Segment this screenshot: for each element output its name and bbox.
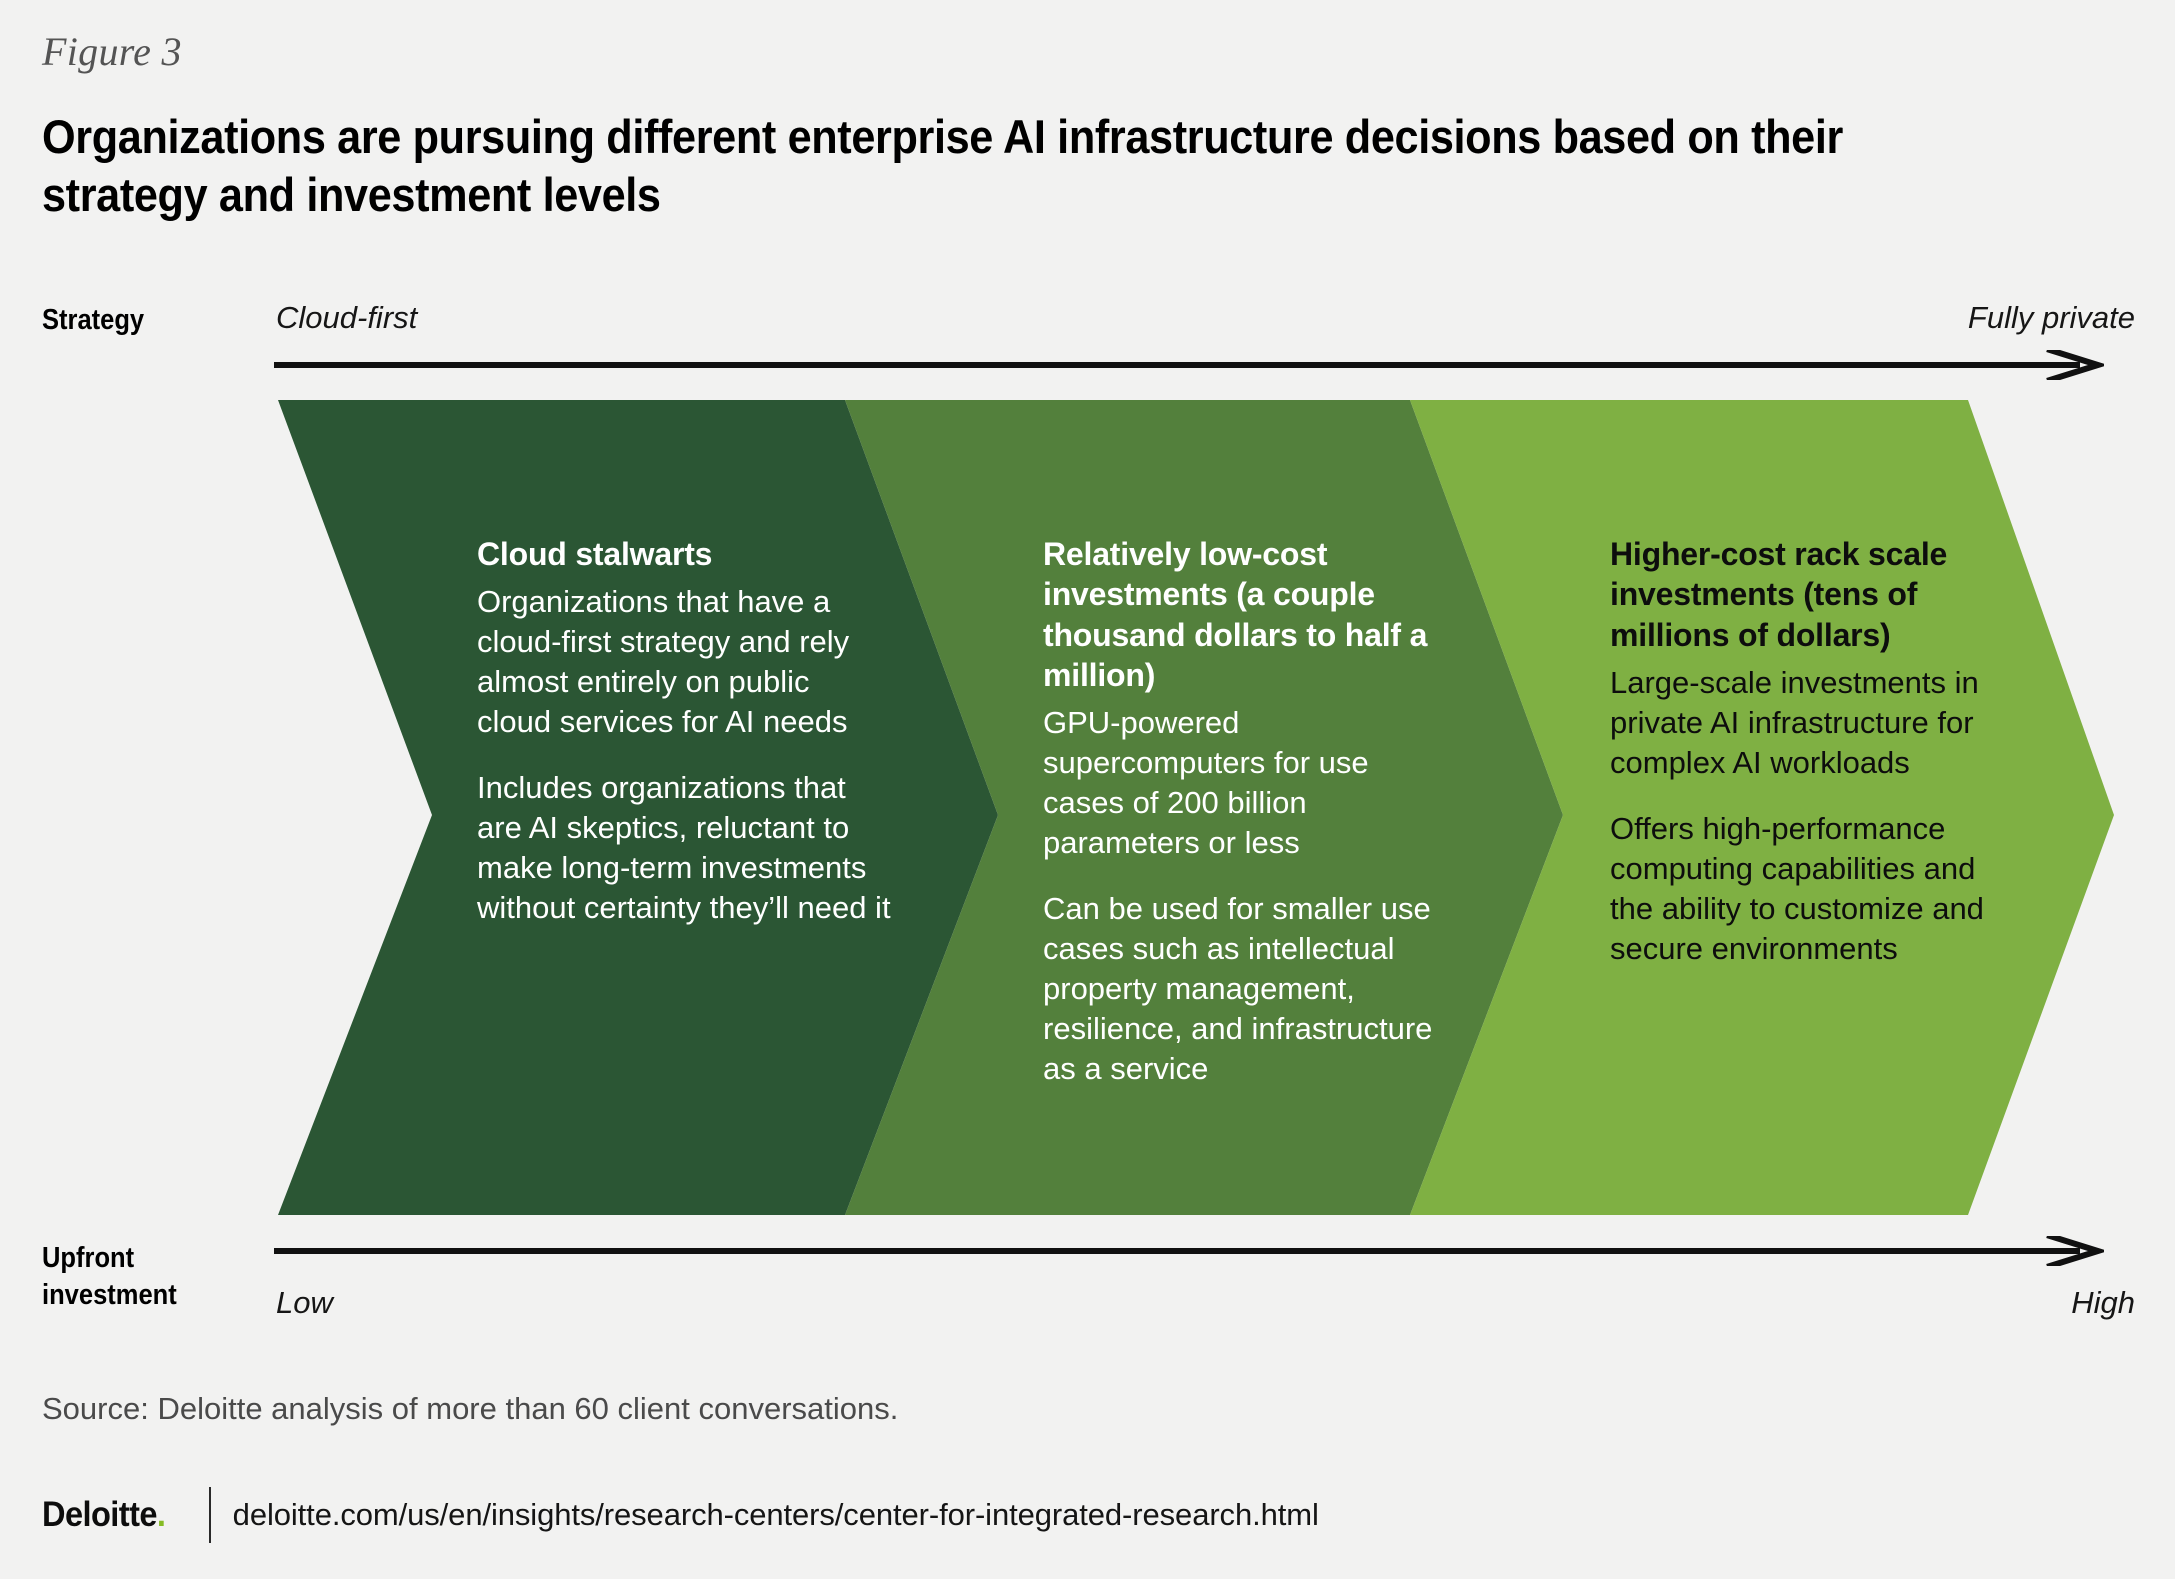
strategy-axis-arrow <box>274 350 2104 380</box>
deloitte-logo: Deloitte. <box>42 1495 165 1535</box>
footer: Deloitte. deloitte.com/us/en/insights/re… <box>42 1487 1319 1543</box>
strategy-axis-label: Strategy <box>42 302 144 339</box>
deloitte-logo-text: Deloitte <box>42 1495 157 1534</box>
investment-axis-arrow <box>274 1236 2104 1266</box>
chevron-segment-2-heading: Relatively low-cost investments (a coupl… <box>1043 534 1448 695</box>
footer-divider <box>209 1487 211 1543</box>
chevron-segment-3-paragraph-1: Large-scale investments in private AI in… <box>1610 663 2005 783</box>
investment-axis-low-cap: Low <box>276 1285 333 1321</box>
chevron-segment-3-text: Higher-cost rack scale investments (tens… <box>1610 534 2005 969</box>
chevron-segment-1-heading: Cloud stalwarts <box>477 534 892 574</box>
chevron-segment-1-paragraph-2: Includes organizations that are AI skept… <box>477 768 892 928</box>
investment-axis-label: Upfront investment <box>42 1240 177 1314</box>
strategy-axis-low-cap: Cloud-first <box>276 300 417 336</box>
source-note: Source: Deloitte analysis of more than 6… <box>42 1391 898 1427</box>
investment-axis-high-cap: High <box>2071 1285 2135 1321</box>
figure-label: Figure 3 <box>42 28 182 75</box>
chevron-segment-1-paragraph-1: Organizations that have a cloud-first st… <box>477 582 892 742</box>
chevron-segment-3-paragraph-2: Offers high-performance computing capabi… <box>1610 809 2005 969</box>
chevron-segment-1-text: Cloud stalwarts Organizations that have … <box>477 534 892 928</box>
deloitte-logo-dot: . <box>157 1495 165 1534</box>
chevron-segment-2-paragraph-1: GPU-powered supercomputers for use cases… <box>1043 703 1448 863</box>
chevron-segment-3-heading: Higher-cost rack scale investments (tens… <box>1610 534 2005 655</box>
strategy-axis-high-cap: Fully private <box>1968 300 2135 336</box>
chevron-segment-2-paragraph-2: Can be used for smaller use cases such a… <box>1043 889 1448 1089</box>
footer-url[interactable]: deloitte.com/us/en/insights/research-cen… <box>233 1497 1319 1533</box>
page-title: Organizations are pursuing different ent… <box>42 108 1937 224</box>
chevron-segment-2-text: Relatively low-cost investments (a coupl… <box>1043 534 1448 1089</box>
